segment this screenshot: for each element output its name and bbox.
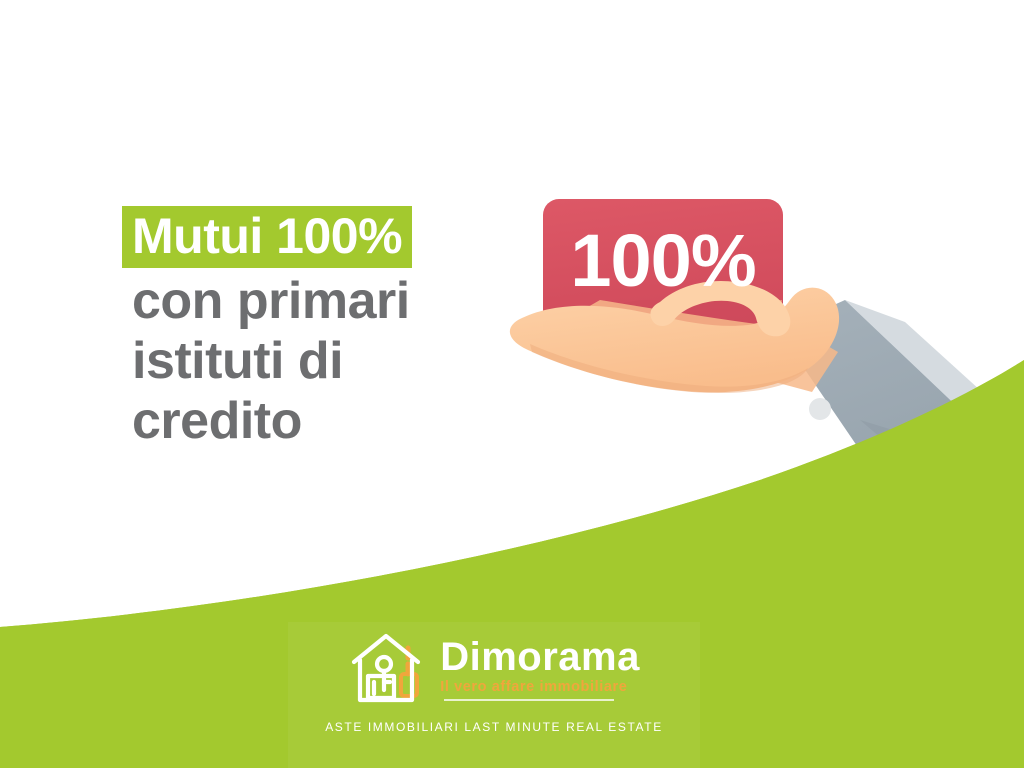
poster-canvas: 100% Mutui 100% con primari istituti di … [0,0,1024,768]
headline-highlight-text: Mutui 100% [122,206,412,268]
logo-tagline: Il vero affare immobiliare [440,678,640,696]
logo-text-group: Dimorama Il vero affare immobiliare [440,637,640,701]
headline-line-2: istituti di [124,334,544,388]
badge-value: 100% [543,205,783,315]
logo-subtitle: ASTE IMMOBILIARI LAST MINUTE REAL ESTATE [325,720,663,734]
headline-highlight-line: Mutui 100% [124,206,544,268]
logo-underline-rule [444,699,614,701]
headline-block: Mutui 100% con primari istituti di credi… [124,206,544,448]
logo-wordmark: Dimorama [440,637,640,677]
house-key-icon [348,628,430,710]
logo-lockup: Dimorama Il vero affare immobiliare [348,628,640,710]
headline-line-3: credito [124,394,544,448]
brand-logo[interactable]: Dimorama Il vero affare immobiliare ASTE… [288,622,700,768]
headline-line-1: con primari [124,274,544,328]
